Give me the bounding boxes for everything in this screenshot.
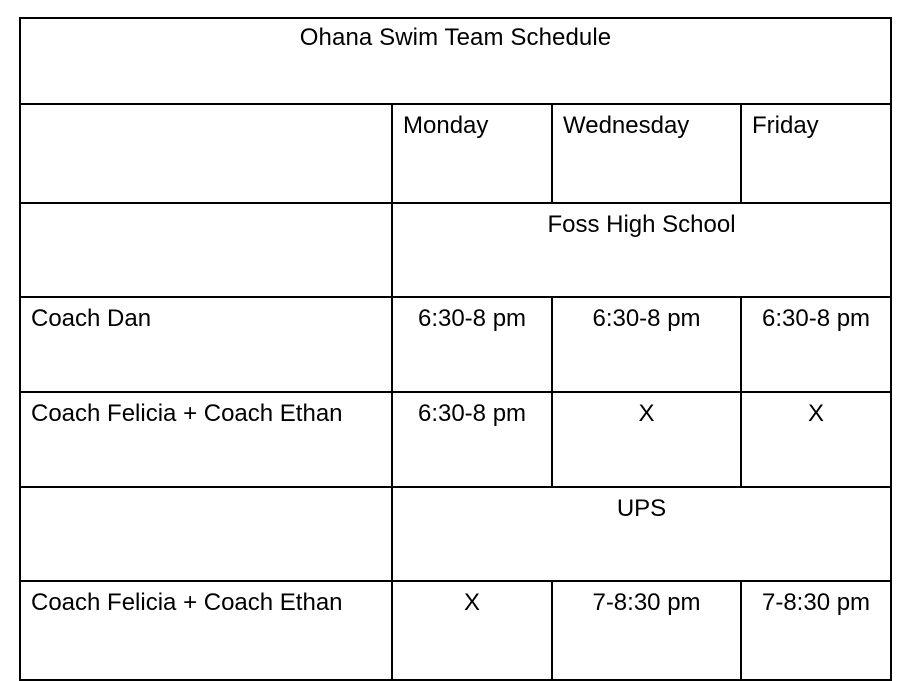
cell-felicia-ethan-ups-friday: 7-8:30 pm: [741, 581, 891, 680]
cell-coach-dan-friday: 6:30-8 pm: [741, 297, 891, 392]
table-row-column-headers: Monday Wednesday Friday: [20, 104, 891, 203]
cell-felicia-ethan-ups-wednesday: 7-8:30 pm: [552, 581, 741, 680]
cell-felicia-ethan-foss-wednesday: X: [552, 392, 741, 487]
swim-team-schedule-table: Ohana Swim Team Schedule Monday Wednesda…: [19, 17, 892, 681]
cell-coach-dan-wednesday: 6:30-8 pm: [552, 297, 741, 392]
page-title: Ohana Swim Team Schedule: [20, 18, 891, 104]
header-cell-blank: [20, 104, 392, 203]
cell-felicia-ethan-foss-friday: X: [741, 392, 891, 487]
table-row-venue-foss: Foss High School: [20, 203, 891, 297]
venue-row-blank-ups: [20, 487, 392, 581]
column-header-wednesday: Wednesday: [552, 104, 741, 203]
cell-felicia-ethan-ups-monday: X: [392, 581, 552, 680]
cell-felicia-ethan-foss-monday: 6:30-8 pm: [392, 392, 552, 487]
table-row-felicia-ethan-ups: Coach Felicia + Coach Ethan X 7-8:30 pm …: [20, 581, 891, 680]
venue-label-ups: UPS: [392, 487, 891, 581]
column-header-friday: Friday: [741, 104, 891, 203]
table-row-venue-ups: UPS: [20, 487, 891, 581]
table-row-coach-dan: Coach Dan 6:30-8 pm 6:30-8 pm 6:30-8 pm: [20, 297, 891, 392]
column-header-monday: Monday: [392, 104, 552, 203]
table-row-felicia-ethan-foss: Coach Felicia + Coach Ethan 6:30-8 pm X …: [20, 392, 891, 487]
row-label-felicia-ethan-ups: Coach Felicia + Coach Ethan: [20, 581, 392, 680]
venue-label-foss-high-school: Foss High School: [392, 203, 891, 297]
venue-row-blank-foss: [20, 203, 392, 297]
row-label-coach-dan: Coach Dan: [20, 297, 392, 392]
table-row-title: Ohana Swim Team Schedule: [20, 18, 891, 104]
cell-coach-dan-monday: 6:30-8 pm: [392, 297, 552, 392]
row-label-felicia-ethan-foss: Coach Felicia + Coach Ethan: [20, 392, 392, 487]
schedule-page: Ohana Swim Team Schedule Monday Wednesda…: [0, 0, 908, 648]
